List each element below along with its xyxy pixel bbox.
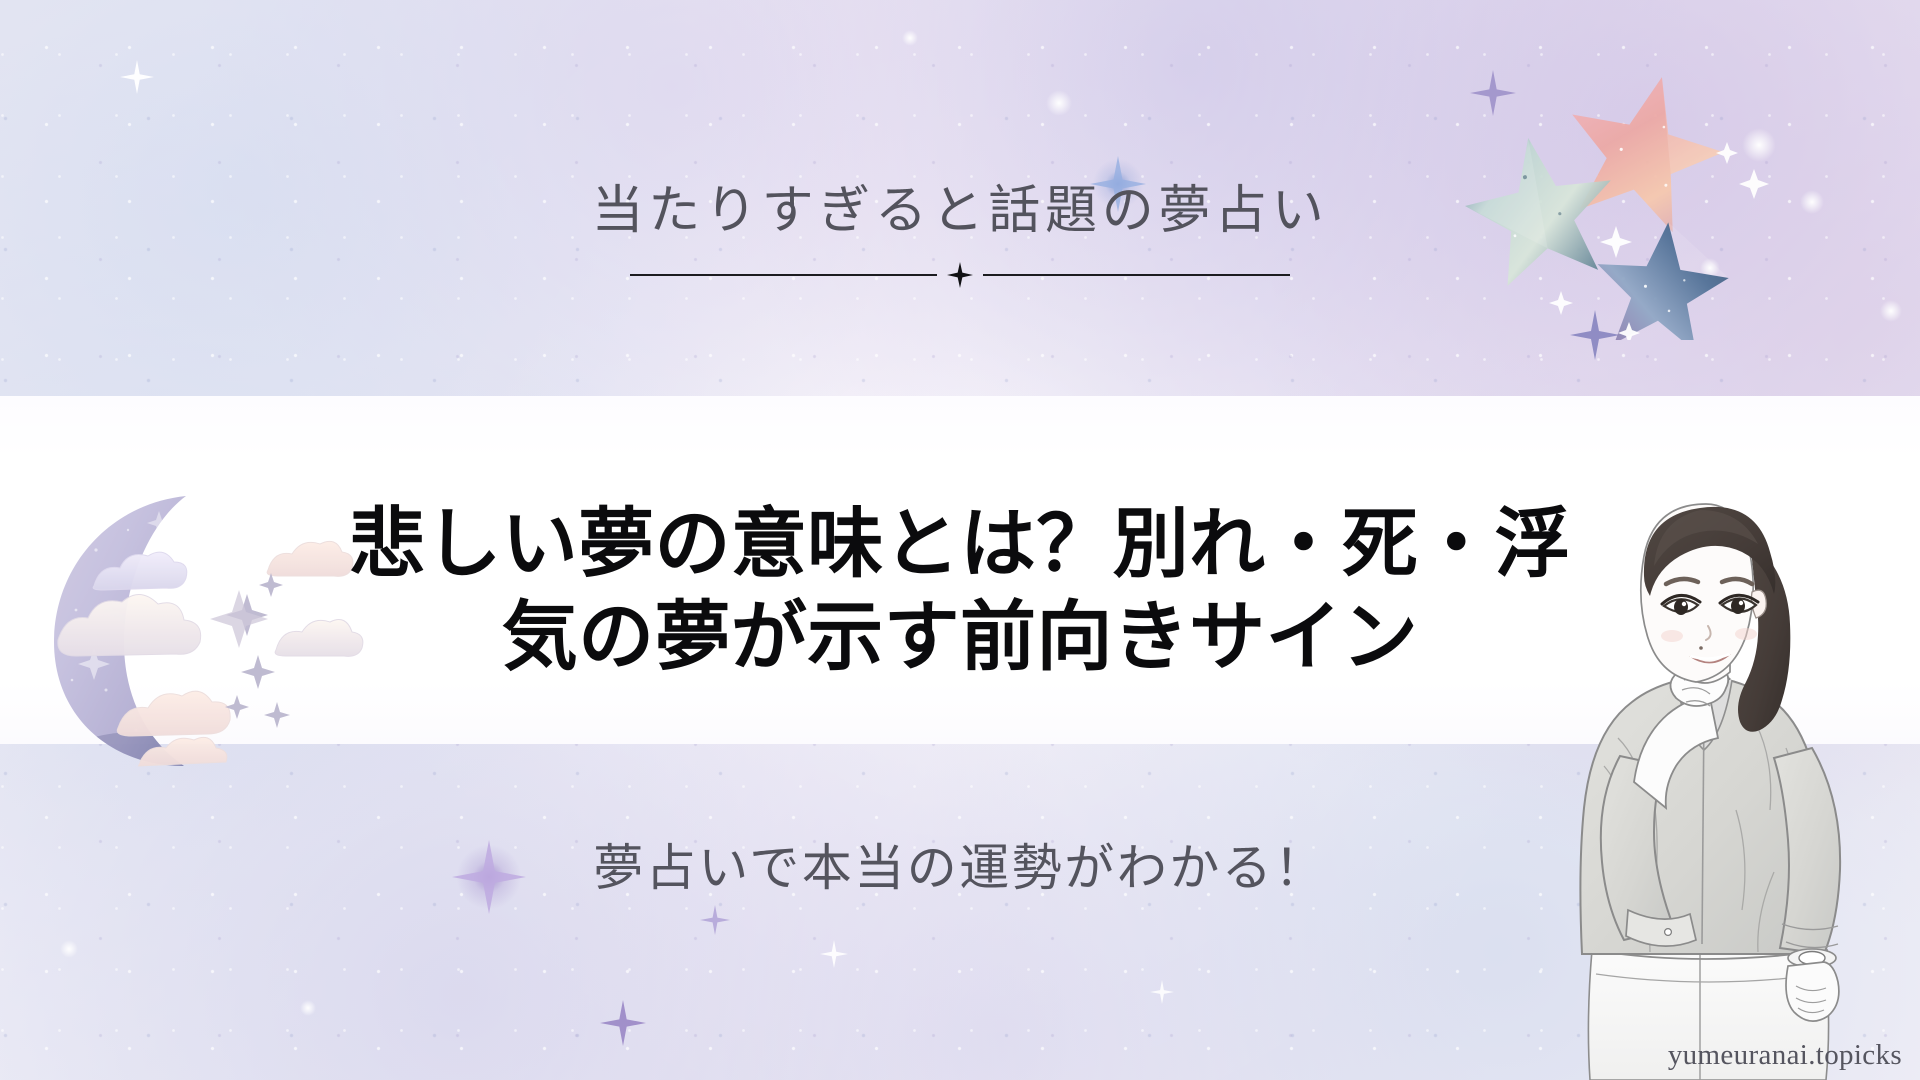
tagline: 夢占いで本当の運勢がわかる！ [0, 828, 1920, 900]
four-point-sparkle-icon [947, 262, 973, 288]
glow-dot [300, 1000, 316, 1016]
page-title-line-1: 悲しい夢の意味とは？別れ・死・浮 [0, 499, 1920, 592]
watercolor-stars-illustration [1440, 50, 1820, 340]
site-watermark: yumeuranai.topicks [1668, 1039, 1902, 1072]
glow-dot [1046, 90, 1072, 116]
divider-line-right [983, 274, 1290, 276]
star-burst-violet-small [600, 1000, 646, 1046]
glow-dot [902, 30, 918, 46]
page-title: 悲しい夢の意味とは？別れ・死・浮 気の夢が示す前向きサイン [0, 499, 1920, 684]
blue-purple-star [1589, 215, 1733, 340]
star-burst-white [1150, 980, 1174, 1004]
eyebrow-text: 当たりすぎると話題の夢占い [592, 183, 1329, 240]
divider-line-left [630, 274, 937, 276]
eyecatch-banner: 当たりすぎると話題の夢占い 悲しい夢の意味とは？別れ・死・浮 気の夢が示す前向き… [0, 0, 1920, 1080]
star-burst-white [120, 60, 154, 94]
glow-dot [1880, 300, 1902, 322]
star-burst-white [820, 940, 848, 968]
page-title-line-2: 気の夢が示す前向きサイン [0, 592, 1920, 685]
glow-dot [60, 940, 78, 958]
star-burst-violet-small [700, 905, 730, 935]
divider [630, 262, 1290, 288]
